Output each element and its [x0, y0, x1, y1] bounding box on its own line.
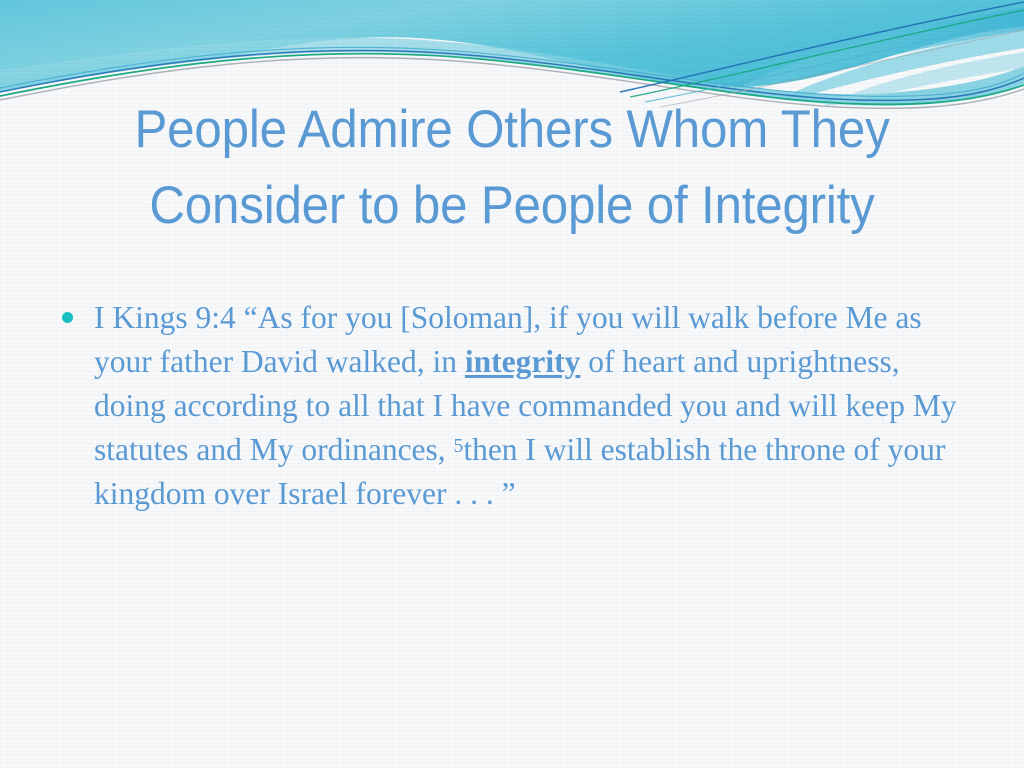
scripture-quote-text: I Kings 9:4 “As for you [Soloman], if yo…: [94, 300, 957, 511]
slide-title: People Admire Others Whom They Consider …: [42, 92, 982, 244]
bullet-dot-icon: [62, 312, 73, 323]
presentation-slide: People Admire Others Whom They Consider …: [0, 0, 1024, 768]
title-line-1: People Admire Others Whom They: [75, 92, 949, 168]
title-line-2: Consider to be People of Integrity: [75, 168, 949, 244]
slide-body: I Kings 9:4 “As for you [Soloman], if yo…: [58, 296, 958, 516]
list-item: I Kings 9:4 “As for you [Soloman], if yo…: [58, 296, 958, 516]
